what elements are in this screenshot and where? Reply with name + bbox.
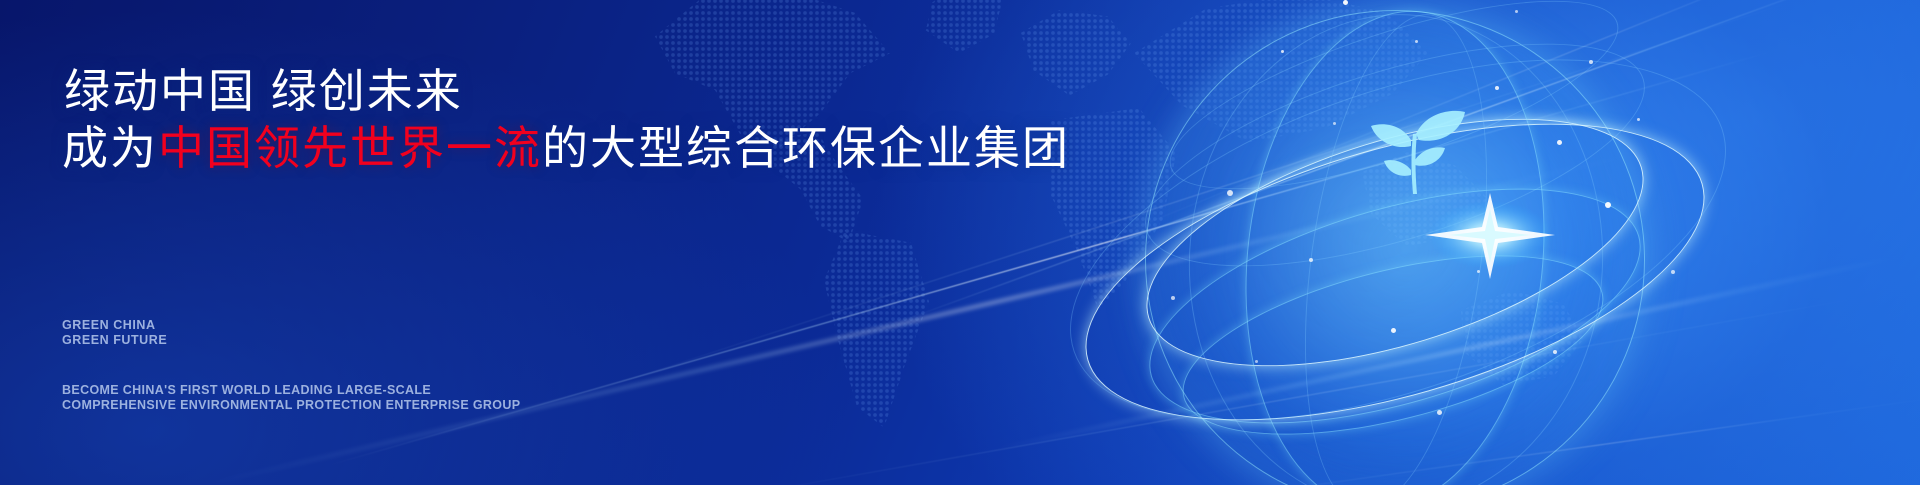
light-streak	[1081, 0, 1879, 250]
tagline-block: BECOME CHINA'S FIRST WORLD LEADING LARGE…	[62, 383, 520, 413]
headline-prefix: 成为	[62, 122, 158, 174]
globe-orbit-ring	[1053, 65, 1737, 480]
map-continent-australia	[1440, 286, 1590, 396]
subtitle-line-2: GREEN FUTURE	[62, 333, 167, 348]
light-streak	[1184, 397, 1920, 485]
globe-ring	[1118, 69, 1671, 416]
globe-ring	[1151, 0, 1637, 228]
globe-ring	[1165, 220, 1620, 470]
headline-accent: 中国领先世界一流	[158, 122, 542, 174]
headline-block: 绿动中国 绿创未来 成为中国领先世界一流的大型综合环保企业集团	[62, 62, 1112, 177]
tagline-line-1: BECOME CHINA'S FIRST WORLD LEADING LARGE…	[62, 383, 520, 398]
headline-line-2: 成为中国领先世界一流的大型综合环保企业集团	[62, 119, 1112, 177]
globe-sphere	[1145, 10, 1645, 485]
globe-ring	[1122, 0, 1669, 312]
globe-orbit-ring	[1025, 0, 1771, 485]
map-continent-asia	[1128, 0, 1428, 176]
headline-suffix: 的大型综合环保企业集团	[542, 122, 1070, 174]
wireframe-globe	[1085, 0, 1705, 485]
starburst-glow	[1405, 175, 1575, 295]
map-continent-southeast-asia	[1350, 150, 1500, 260]
subtitle-block: GREEN CHINA GREEN FUTURE	[62, 318, 167, 348]
globe-ring	[1124, 142, 1666, 470]
tagline-line-2: COMPREHENSIVE ENVIRONMENTAL PROTECTION E…	[62, 398, 520, 413]
headline-line-1: 绿动中国 绿创未来	[64, 62, 1112, 120]
light-streak	[552, 0, 1808, 405]
map-continent-greenland	[906, 0, 1016, 68]
globe-glow	[1125, 0, 1665, 485]
light-streak	[709, 296, 1871, 485]
map-continent-south-america	[800, 226, 950, 436]
subtitle-line-1: GREEN CHINA	[62, 318, 167, 333]
sprout-seedling-icon	[1353, 90, 1473, 210]
sparkle-particles	[1085, 0, 1705, 485]
globe-ring	[1277, 3, 1515, 485]
light-streak	[990, 255, 1900, 451]
globe-ring	[1222, 0, 1569, 485]
hero-banner: 绿动中国 绿创未来 成为中国领先世界一流的大型综合环保企业集团 GREEN CH…	[0, 0, 1920, 485]
light-streak	[199, 152, 1642, 485]
globe-ring	[1176, 4, 1615, 485]
